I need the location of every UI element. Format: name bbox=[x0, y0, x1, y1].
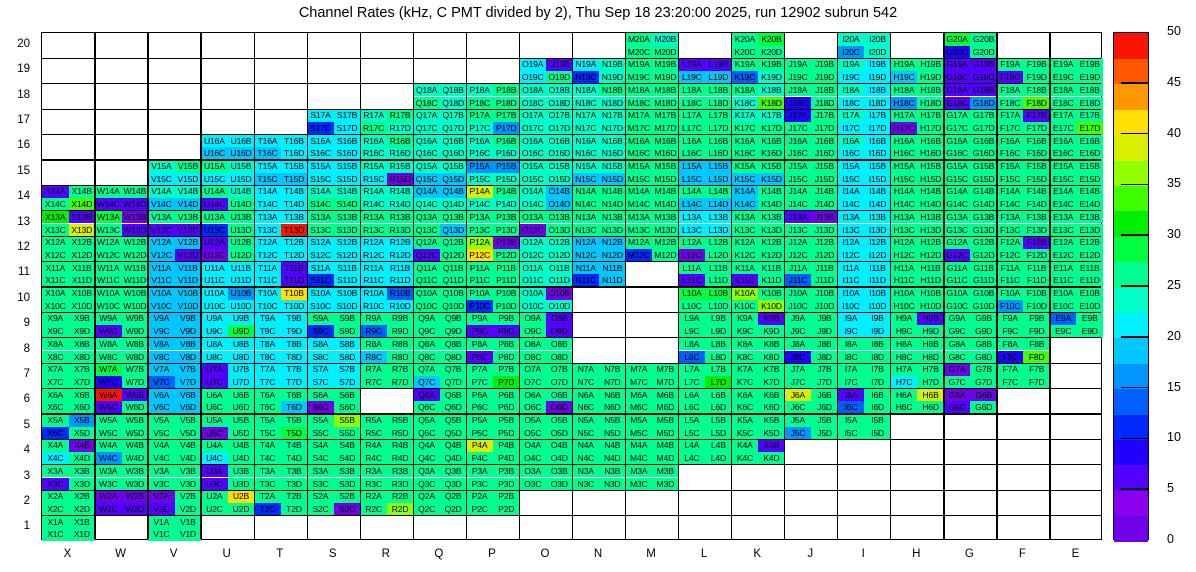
heatmap-sub-cell[interactable]: H7D bbox=[917, 376, 944, 389]
heatmap-sub-cell[interactable]: I19A bbox=[838, 58, 865, 71]
heatmap-sub-cell[interactable]: P3B bbox=[493, 465, 520, 478]
heatmap-sub-cell[interactable]: O9B bbox=[546, 312, 573, 325]
heatmap-sub-cell[interactable]: U8D bbox=[228, 351, 255, 364]
heatmap-sub-cell[interactable]: H11D bbox=[917, 274, 944, 287]
heatmap-sub-cell[interactable]: S12C bbox=[307, 249, 334, 262]
heatmap-sub-cell[interactable]: M7C bbox=[626, 376, 653, 389]
heatmap-sub-cell[interactable]: L12B bbox=[705, 236, 732, 249]
heatmap-sub-cell[interactable]: H14A bbox=[891, 185, 918, 198]
heatmap-sub-cell[interactable]: O6B bbox=[546, 389, 573, 402]
heatmap-sub-cell[interactable]: G15D bbox=[970, 173, 997, 186]
heatmap-sub-cell[interactable]: I14A bbox=[838, 185, 865, 198]
heatmap-sub-cell[interactable]: X10B bbox=[69, 287, 96, 300]
heatmap-sub-cell[interactable]: J6A bbox=[785, 389, 812, 402]
heatmap-sub-cell[interactable]: N12B bbox=[599, 236, 626, 249]
heatmap-sub-cell[interactable]: N5C bbox=[573, 427, 600, 440]
heatmap-sub-cell[interactable]: W8A bbox=[95, 338, 122, 351]
heatmap-sub-cell[interactable]: U16B bbox=[228, 135, 255, 148]
heatmap-sub-cell[interactable]: L15A bbox=[679, 160, 706, 173]
heatmap-sub-cell[interactable]: U8A bbox=[201, 338, 228, 351]
heatmap-sub-cell[interactable]: F13D bbox=[1023, 224, 1050, 237]
heatmap-sub-cell[interactable]: L15C bbox=[679, 173, 706, 186]
heatmap-sub-cell[interactable]: I16C bbox=[838, 147, 865, 160]
heatmap-sub-cell[interactable]: O12B bbox=[546, 236, 573, 249]
heatmap-sub-cell[interactable]: O14B bbox=[546, 185, 573, 198]
heatmap-sub-cell[interactable]: W3B bbox=[122, 465, 149, 478]
heatmap-sub-cell[interactable]: R3B bbox=[387, 465, 414, 478]
heatmap-sub-cell[interactable]: P3C bbox=[466, 478, 493, 491]
heatmap-sub-cell[interactable]: I12A bbox=[838, 236, 865, 249]
heatmap-sub-cell[interactable]: R8A bbox=[360, 338, 387, 351]
heatmap-sub-cell[interactable]: V15D bbox=[175, 173, 202, 186]
heatmap-sub-cell[interactable]: J19D bbox=[811, 71, 838, 84]
heatmap-sub-cell[interactable]: G12D bbox=[970, 249, 997, 262]
heatmap-sub-cell[interactable]: F11A bbox=[997, 262, 1024, 275]
heatmap-sub-cell[interactable]: H11C bbox=[891, 274, 918, 287]
heatmap-sub-cell[interactable]: P15A bbox=[466, 160, 493, 173]
heatmap-sub-cell[interactable]: S3C bbox=[307, 478, 334, 491]
heatmap-sub-cell[interactable]: E10C bbox=[1050, 300, 1077, 313]
heatmap-sub-cell[interactable]: N11A bbox=[573, 262, 600, 275]
heatmap-sub-cell[interactable]: U10A bbox=[201, 287, 228, 300]
heatmap-sub-cell[interactable]: G6B bbox=[970, 389, 997, 402]
heatmap-sub-cell[interactable]: X5D bbox=[69, 427, 96, 440]
heatmap-sub-cell[interactable]: S7B bbox=[334, 363, 361, 376]
heatmap-sub-cell[interactable]: W9D bbox=[122, 325, 149, 338]
heatmap-sub-cell[interactable]: K13C bbox=[732, 224, 759, 237]
heatmap-sub-cell[interactable]: W5A bbox=[95, 414, 122, 427]
heatmap-sub-cell[interactable]: L10B bbox=[705, 287, 732, 300]
heatmap-sub-cell[interactable]: M4A bbox=[626, 439, 653, 452]
heatmap-sub-cell[interactable]: R16B bbox=[387, 135, 414, 148]
heatmap-sub-cell[interactable]: L8D bbox=[705, 351, 732, 364]
heatmap-sub-cell[interactable]: K15B bbox=[758, 160, 785, 173]
heatmap-sub-cell[interactable]: S15A bbox=[307, 160, 334, 173]
heatmap-sub-cell[interactable]: I19B bbox=[864, 58, 891, 71]
heatmap-sub-cell[interactable]: N3B bbox=[599, 465, 626, 478]
heatmap-sub-cell[interactable]: M19B bbox=[652, 58, 679, 71]
heatmap-sub-cell[interactable]: X10C bbox=[42, 300, 69, 313]
heatmap-sub-cell[interactable]: J13B bbox=[811, 211, 838, 224]
heatmap-sub-cell[interactable]: K18B bbox=[758, 84, 785, 97]
heatmap-sub-cell[interactable]: L7D bbox=[705, 376, 732, 389]
heatmap-sub-cell[interactable]: O10D bbox=[546, 300, 573, 313]
heatmap-sub-cell[interactable]: O16C bbox=[519, 147, 546, 160]
heatmap-sub-cell[interactable]: K17A bbox=[732, 109, 759, 122]
heatmap-sub-cell[interactable]: O11A bbox=[519, 262, 546, 275]
heatmap-sub-cell[interactable]: U6B bbox=[228, 389, 255, 402]
heatmap-sub-cell[interactable]: T10C bbox=[254, 300, 281, 313]
heatmap-sub-cell[interactable]: K17C bbox=[732, 122, 759, 135]
heatmap-sub-cell[interactable]: J18D bbox=[811, 97, 838, 110]
heatmap-sub-cell[interactable]: V4A bbox=[148, 439, 175, 452]
heatmap-sub-cell[interactable]: S5C bbox=[307, 427, 334, 440]
heatmap-sub-cell[interactable]: N6C bbox=[573, 401, 600, 414]
heatmap-sub-cell[interactable]: W6B bbox=[122, 389, 149, 402]
heatmap-sub-cell[interactable]: V14C bbox=[148, 198, 175, 211]
heatmap-sub-cell[interactable]: F7C bbox=[997, 376, 1024, 389]
heatmap-sub-cell[interactable]: P6A bbox=[466, 389, 493, 402]
heatmap-sub-cell[interactable]: N12D bbox=[599, 249, 626, 262]
heatmap-sub-cell[interactable]: Q5A bbox=[413, 414, 440, 427]
heatmap-sub-cell[interactable]: I5D bbox=[864, 427, 891, 440]
heatmap-sub-cell[interactable]: N18D bbox=[599, 97, 626, 110]
heatmap-sub-cell[interactable]: L16A bbox=[679, 135, 706, 148]
heatmap-sub-cell[interactable]: Q13A bbox=[413, 211, 440, 224]
heatmap-sub-cell[interactable]: W3D bbox=[122, 478, 149, 491]
heatmap-sub-cell[interactable]: J16D bbox=[811, 147, 838, 160]
heatmap-sub-cell[interactable]: M18D bbox=[652, 97, 679, 110]
heatmap-sub-cell[interactable]: X13D bbox=[69, 224, 96, 237]
heatmap-sub-cell[interactable]: J9B bbox=[811, 312, 838, 325]
heatmap-sub-cell[interactable]: X1C bbox=[42, 528, 69, 541]
heatmap-sub-cell[interactable]: N15C bbox=[573, 173, 600, 186]
heatmap-sub-cell[interactable]: I16B bbox=[864, 135, 891, 148]
heatmap-sub-cell[interactable]: T11A bbox=[254, 262, 281, 275]
heatmap-sub-cell[interactable]: E10A bbox=[1050, 287, 1077, 300]
heatmap-sub-cell[interactable]: X7D bbox=[69, 376, 96, 389]
heatmap-sub-cell[interactable]: Q15A bbox=[413, 160, 440, 173]
heatmap-sub-cell[interactable]: L14C bbox=[679, 198, 706, 211]
heatmap-sub-cell[interactable]: J11A bbox=[785, 262, 812, 275]
heatmap-sub-cell[interactable]: E17A bbox=[1050, 109, 1077, 122]
heatmap-sub-cell[interactable]: J16B bbox=[811, 135, 838, 148]
heatmap-sub-cell[interactable]: L17D bbox=[705, 122, 732, 135]
heatmap-sub-cell[interactable]: O9A bbox=[519, 312, 546, 325]
heatmap-sub-cell[interactable]: K12C bbox=[732, 249, 759, 262]
heatmap-sub-cell[interactable]: L4D bbox=[705, 452, 732, 465]
heatmap-sub-cell[interactable]: W11D bbox=[122, 274, 149, 287]
heatmap-sub-cell[interactable]: L9D bbox=[705, 325, 732, 338]
heatmap-sub-cell[interactable]: G9D bbox=[970, 325, 997, 338]
heatmap-sub-cell[interactable]: U12C bbox=[201, 249, 228, 262]
heatmap-sub-cell[interactable]: T4B bbox=[281, 439, 308, 452]
heatmap-sub-cell[interactable]: F17C bbox=[997, 122, 1024, 135]
heatmap-sub-cell[interactable]: P2B bbox=[493, 490, 520, 503]
heatmap-sub-cell[interactable]: X10D bbox=[69, 300, 96, 313]
heatmap-sub-cell[interactable]: L15D bbox=[705, 173, 732, 186]
heatmap-sub-cell[interactable]: E15C bbox=[1050, 173, 1077, 186]
heatmap-sub-cell[interactable]: X14B bbox=[69, 185, 96, 198]
heatmap-sub-cell[interactable]: Q17D bbox=[440, 122, 467, 135]
heatmap-sub-cell[interactable]: I20C bbox=[838, 46, 865, 59]
heatmap-sub-cell[interactable]: H6D bbox=[917, 401, 944, 414]
heatmap-sub-cell[interactable]: U9D bbox=[228, 325, 255, 338]
heatmap-sub-cell[interactable]: N16C bbox=[573, 147, 600, 160]
heatmap-sub-cell[interactable]: J15C bbox=[785, 173, 812, 186]
heatmap-sub-cell[interactable]: F18C bbox=[997, 97, 1024, 110]
heatmap-sub-cell[interactable]: W12D bbox=[122, 249, 149, 262]
heatmap-sub-cell[interactable]: K10D bbox=[758, 300, 785, 313]
heatmap-sub-cell[interactable]: Q16C bbox=[413, 147, 440, 160]
heatmap-sub-cell[interactable]: Q18C bbox=[413, 97, 440, 110]
heatmap-sub-cell[interactable]: R3C bbox=[360, 478, 387, 491]
heatmap-sub-cell[interactable]: U12B bbox=[228, 236, 255, 249]
heatmap-sub-cell[interactable]: T14B bbox=[281, 185, 308, 198]
heatmap-sub-cell[interactable]: F7D bbox=[1023, 376, 1050, 389]
heatmap-sub-cell[interactable]: X3D bbox=[69, 478, 96, 491]
heatmap-sub-cell[interactable]: G17C bbox=[944, 122, 971, 135]
heatmap-sub-cell[interactable]: F15C bbox=[997, 173, 1024, 186]
heatmap-sub-cell[interactable]: J12B bbox=[811, 236, 838, 249]
heatmap-sub-cell[interactable]: I6C bbox=[838, 401, 865, 414]
heatmap-sub-cell[interactable]: V2D bbox=[175, 503, 202, 516]
heatmap-sub-cell[interactable]: J10B bbox=[811, 287, 838, 300]
heatmap-sub-cell[interactable]: S9C bbox=[307, 325, 334, 338]
heatmap-sub-cell[interactable]: H15C bbox=[891, 173, 918, 186]
heatmap-sub-cell[interactable]: G20D bbox=[970, 46, 997, 59]
heatmap-sub-cell[interactable]: N3C bbox=[573, 478, 600, 491]
heatmap-sub-cell[interactable]: L19B bbox=[705, 58, 732, 71]
heatmap-sub-cell[interactable]: O5D bbox=[546, 427, 573, 440]
heatmap-sub-cell[interactable]: G12C bbox=[944, 249, 971, 262]
heatmap-sub-cell[interactable]: X11D bbox=[69, 274, 96, 287]
heatmap-sub-cell[interactable]: J19C bbox=[785, 71, 812, 84]
heatmap-sub-cell[interactable]: S9A bbox=[307, 312, 334, 325]
heatmap-sub-cell[interactable]: I7D bbox=[864, 376, 891, 389]
heatmap-sub-cell[interactable]: F16A bbox=[997, 135, 1024, 148]
heatmap-sub-cell[interactable]: M17A bbox=[626, 109, 653, 122]
heatmap-sub-cell[interactable]: R4A bbox=[360, 439, 387, 452]
heatmap-sub-cell[interactable]: R7A bbox=[360, 363, 387, 376]
heatmap-sub-cell[interactable]: O11C bbox=[519, 274, 546, 287]
heatmap-sub-cell[interactable]: V7D bbox=[175, 376, 202, 389]
heatmap-sub-cell[interactable]: S14C bbox=[307, 198, 334, 211]
heatmap-sub-cell[interactable]: X1B bbox=[69, 516, 96, 529]
heatmap-sub-cell[interactable]: M5A bbox=[626, 414, 653, 427]
heatmap-sub-cell[interactable]: M19A bbox=[626, 58, 653, 71]
heatmap-sub-cell[interactable]: K15D bbox=[758, 173, 785, 186]
heatmap-sub-cell[interactable]: N4D bbox=[599, 452, 626, 465]
heatmap-sub-cell[interactable]: O13D bbox=[546, 224, 573, 237]
heatmap-sub-cell[interactable]: F8D bbox=[1023, 351, 1050, 364]
heatmap-sub-cell[interactable]: S12B bbox=[334, 236, 361, 249]
heatmap-sub-cell[interactable]: K9A bbox=[732, 312, 759, 325]
heatmap-sub-cell[interactable]: W2A bbox=[95, 490, 122, 503]
heatmap-sub-cell[interactable]: L5B bbox=[705, 414, 732, 427]
heatmap-sub-cell[interactable]: O10B bbox=[546, 287, 573, 300]
heatmap-sub-cell[interactable]: I18B bbox=[864, 84, 891, 97]
heatmap-sub-cell[interactable]: T5B bbox=[281, 414, 308, 427]
heatmap-sub-cell[interactable]: N4A bbox=[573, 439, 600, 452]
heatmap-sub-cell[interactable]: I14C bbox=[838, 198, 865, 211]
heatmap-sub-cell[interactable]: K8B bbox=[758, 338, 785, 351]
heatmap-sub-cell[interactable]: L8B bbox=[705, 338, 732, 351]
heatmap-sub-cell[interactable]: E19A bbox=[1050, 58, 1077, 71]
heatmap-sub-cell[interactable]: V4C bbox=[148, 452, 175, 465]
heatmap-sub-cell[interactable]: O3C bbox=[519, 478, 546, 491]
heatmap-sub-cell[interactable]: U2D bbox=[228, 503, 255, 516]
heatmap-sub-cell[interactable]: O19C bbox=[519, 71, 546, 84]
heatmap-sub-cell[interactable]: N6B bbox=[599, 389, 626, 402]
heatmap-sub-cell[interactable]: F14A bbox=[997, 185, 1024, 198]
heatmap-sub-cell[interactable]: P17C bbox=[466, 122, 493, 135]
heatmap-sub-cell[interactable]: E14C bbox=[1050, 198, 1077, 211]
heatmap-sub-cell[interactable]: K19A bbox=[732, 58, 759, 71]
heatmap-sub-cell[interactable]: S10D bbox=[334, 300, 361, 313]
heatmap-sub-cell[interactable]: J18A bbox=[785, 84, 812, 97]
heatmap-sub-cell[interactable]: V3A bbox=[148, 465, 175, 478]
heatmap-sub-cell[interactable]: Q10B bbox=[440, 287, 467, 300]
heatmap-sub-cell[interactable]: I8A bbox=[838, 338, 865, 351]
heatmap-sub-cell[interactable]: L14B bbox=[705, 185, 732, 198]
heatmap-sub-cell[interactable]: R14A bbox=[360, 185, 387, 198]
heatmap-sub-cell[interactable]: S2B bbox=[334, 490, 361, 503]
heatmap-sub-cell[interactable]: N13B bbox=[599, 211, 626, 224]
heatmap-sub-cell[interactable]: G15A bbox=[944, 160, 971, 173]
heatmap-sub-cell[interactable]: H15D bbox=[917, 173, 944, 186]
heatmap-sub-cell[interactable]: W10A bbox=[95, 287, 122, 300]
heatmap-sub-cell[interactable]: V5D bbox=[175, 427, 202, 440]
heatmap-sub-cell[interactable]: G14A bbox=[944, 185, 971, 198]
heatmap-sub-cell[interactable]: G11B bbox=[970, 262, 997, 275]
heatmap-sub-cell[interactable]: T7B bbox=[281, 363, 308, 376]
heatmap-sub-cell[interactable]: F7A bbox=[997, 363, 1024, 376]
heatmap-sub-cell[interactable]: T10D bbox=[281, 300, 308, 313]
heatmap-plot-area[interactable]: M20AM20BM20CM20DK20AK20BK20CK20DI20AI20B… bbox=[41, 32, 1102, 540]
heatmap-sub-cell[interactable]: S17B bbox=[334, 109, 361, 122]
heatmap-sub-cell[interactable]: L17A bbox=[679, 109, 706, 122]
heatmap-sub-cell[interactable]: P18C bbox=[466, 97, 493, 110]
heatmap-sub-cell[interactable]: O8D bbox=[546, 351, 573, 364]
heatmap-sub-cell[interactable]: U4C bbox=[201, 452, 228, 465]
heatmap-sub-cell[interactable]: O6D bbox=[546, 401, 573, 414]
heatmap-sub-cell[interactable]: H8B bbox=[917, 338, 944, 351]
heatmap-sub-cell[interactable]: S5B bbox=[334, 414, 361, 427]
heatmap-sub-cell[interactable]: W13B bbox=[122, 211, 149, 224]
heatmap-sub-cell[interactable]: X13C bbox=[42, 224, 69, 237]
heatmap-sub-cell[interactable]: O12A bbox=[519, 236, 546, 249]
heatmap-sub-cell[interactable]: J5C bbox=[785, 427, 812, 440]
heatmap-sub-cell[interactable]: T9D bbox=[281, 325, 308, 338]
heatmap-sub-cell[interactable]: J18B bbox=[811, 84, 838, 97]
heatmap-sub-cell[interactable]: E19D bbox=[1076, 71, 1103, 84]
heatmap-sub-cell[interactable]: G14D bbox=[970, 198, 997, 211]
heatmap-sub-cell[interactable]: W12B bbox=[122, 236, 149, 249]
heatmap-sub-cell[interactable]: N19A bbox=[573, 58, 600, 71]
heatmap-sub-cell[interactable]: M4B bbox=[652, 439, 679, 452]
heatmap-sub-cell[interactable]: T12A bbox=[254, 236, 281, 249]
heatmap-sub-cell[interactable]: U12D bbox=[228, 249, 255, 262]
heatmap-sub-cell[interactable]: S7D bbox=[334, 376, 361, 389]
heatmap-sub-cell[interactable]: V6C bbox=[148, 401, 175, 414]
heatmap-sub-cell[interactable]: N14B bbox=[599, 185, 626, 198]
heatmap-sub-cell[interactable]: F13B bbox=[1023, 211, 1050, 224]
heatmap-sub-cell[interactable]: I13C bbox=[838, 224, 865, 237]
heatmap-sub-cell[interactable]: G16B bbox=[970, 135, 997, 148]
heatmap-sub-cell[interactable]: M16B bbox=[652, 135, 679, 148]
heatmap-sub-cell[interactable]: P7C bbox=[466, 376, 493, 389]
heatmap-sub-cell[interactable]: W9B bbox=[122, 312, 149, 325]
heatmap-sub-cell[interactable]: I20B bbox=[864, 33, 891, 46]
heatmap-sub-cell[interactable]: R14B bbox=[387, 185, 414, 198]
heatmap-sub-cell[interactable]: H6A bbox=[891, 389, 918, 402]
heatmap-sub-cell[interactable]: Q10A bbox=[413, 287, 440, 300]
heatmap-sub-cell[interactable]: M12B bbox=[652, 236, 679, 249]
heatmap-sub-cell[interactable]: O17D bbox=[546, 122, 573, 135]
heatmap-sub-cell[interactable]: P16B bbox=[493, 135, 520, 148]
heatmap-sub-cell[interactable]: I9A bbox=[838, 312, 865, 325]
heatmap-sub-cell[interactable]: H8C bbox=[891, 351, 918, 364]
heatmap-sub-cell[interactable]: V8A bbox=[148, 338, 175, 351]
heatmap-sub-cell[interactable]: U7D bbox=[228, 376, 255, 389]
heatmap-sub-cell[interactable]: K7C bbox=[732, 376, 759, 389]
heatmap-sub-cell[interactable]: M19C bbox=[626, 71, 653, 84]
heatmap-sub-cell[interactable]: S4B bbox=[334, 439, 361, 452]
heatmap-sub-cell[interactable]: P18B bbox=[493, 84, 520, 97]
heatmap-sub-cell[interactable]: E11C bbox=[1050, 274, 1077, 287]
heatmap-sub-cell[interactable]: T14C bbox=[254, 198, 281, 211]
heatmap-sub-cell[interactable]: T12B bbox=[281, 236, 308, 249]
heatmap-sub-cell[interactable]: G8A bbox=[944, 338, 971, 351]
heatmap-sub-cell[interactable]: F17D bbox=[1023, 122, 1050, 135]
heatmap-sub-cell[interactable]: U11C bbox=[201, 274, 228, 287]
heatmap-sub-cell[interactable]: S5A bbox=[307, 414, 334, 427]
heatmap-sub-cell[interactable]: Q8C bbox=[413, 351, 440, 364]
heatmap-sub-cell[interactable]: L16C bbox=[679, 147, 706, 160]
heatmap-sub-cell[interactable]: T14D bbox=[281, 198, 308, 211]
heatmap-sub-cell[interactable]: N4C bbox=[573, 452, 600, 465]
heatmap-sub-cell[interactable]: V14A bbox=[148, 185, 175, 198]
heatmap-sub-cell[interactable]: J17B bbox=[811, 109, 838, 122]
heatmap-sub-cell[interactable]: H6B bbox=[917, 389, 944, 402]
heatmap-sub-cell[interactable]: H8A bbox=[891, 338, 918, 351]
heatmap-sub-cell[interactable]: G12A bbox=[944, 236, 971, 249]
heatmap-sub-cell[interactable]: H16A bbox=[891, 135, 918, 148]
heatmap-sub-cell[interactable]: T4A bbox=[254, 439, 281, 452]
heatmap-sub-cell[interactable]: W4A bbox=[95, 439, 122, 452]
heatmap-sub-cell[interactable]: E17D bbox=[1076, 122, 1103, 135]
heatmap-sub-cell[interactable]: Q4C bbox=[413, 452, 440, 465]
heatmap-sub-cell[interactable]: M12D bbox=[652, 249, 679, 262]
heatmap-sub-cell[interactable]: F10A bbox=[997, 287, 1024, 300]
heatmap-sub-cell[interactable]: S16C bbox=[307, 147, 334, 160]
heatmap-sub-cell[interactable]: R12C bbox=[360, 249, 387, 262]
heatmap-sub-cell[interactable]: P2A bbox=[466, 490, 493, 503]
heatmap-sub-cell[interactable]: T5D bbox=[281, 427, 308, 440]
heatmap-sub-cell[interactable]: M15D bbox=[652, 173, 679, 186]
heatmap-sub-cell[interactable]: I13A bbox=[838, 211, 865, 224]
heatmap-sub-cell[interactable]: Q9B bbox=[440, 312, 467, 325]
heatmap-sub-cell[interactable]: V12D bbox=[175, 249, 202, 262]
heatmap-sub-cell[interactable]: Q8B bbox=[440, 338, 467, 351]
heatmap-sub-cell[interactable]: T15A bbox=[254, 160, 281, 173]
heatmap-sub-cell[interactable]: V8D bbox=[175, 351, 202, 364]
heatmap-sub-cell[interactable]: O8A bbox=[519, 338, 546, 351]
heatmap-sub-cell[interactable]: P9A bbox=[466, 312, 493, 325]
heatmap-sub-cell[interactable]: E9B bbox=[1076, 312, 1103, 325]
heatmap-sub-cell[interactable]: K9B bbox=[758, 312, 785, 325]
heatmap-sub-cell[interactable]: P15D bbox=[493, 173, 520, 186]
heatmap-sub-cell[interactable]: I9D bbox=[864, 325, 891, 338]
heatmap-sub-cell[interactable]: X4C bbox=[42, 452, 69, 465]
heatmap-sub-cell[interactable]: P14B bbox=[493, 185, 520, 198]
heatmap-sub-cell[interactable]: Q13B bbox=[440, 211, 467, 224]
heatmap-sub-cell[interactable]: U9B bbox=[228, 312, 255, 325]
heatmap-sub-cell[interactable]: P13C bbox=[466, 224, 493, 237]
heatmap-sub-cell[interactable]: T3C bbox=[254, 478, 281, 491]
heatmap-sub-cell[interactable]: H12A bbox=[891, 236, 918, 249]
heatmap-sub-cell[interactable]: O17A bbox=[519, 109, 546, 122]
heatmap-sub-cell[interactable]: U11D bbox=[228, 274, 255, 287]
heatmap-sub-cell[interactable]: Q10C bbox=[413, 300, 440, 313]
heatmap-sub-cell[interactable]: E16A bbox=[1050, 135, 1077, 148]
heatmap-sub-cell[interactable]: S16A bbox=[307, 135, 334, 148]
heatmap-sub-cell[interactable]: J7C bbox=[785, 376, 812, 389]
heatmap-sub-cell[interactable]: S15C bbox=[307, 173, 334, 186]
heatmap-sub-cell[interactable]: J14B bbox=[811, 185, 838, 198]
heatmap-sub-cell[interactable]: P12A bbox=[466, 236, 493, 249]
